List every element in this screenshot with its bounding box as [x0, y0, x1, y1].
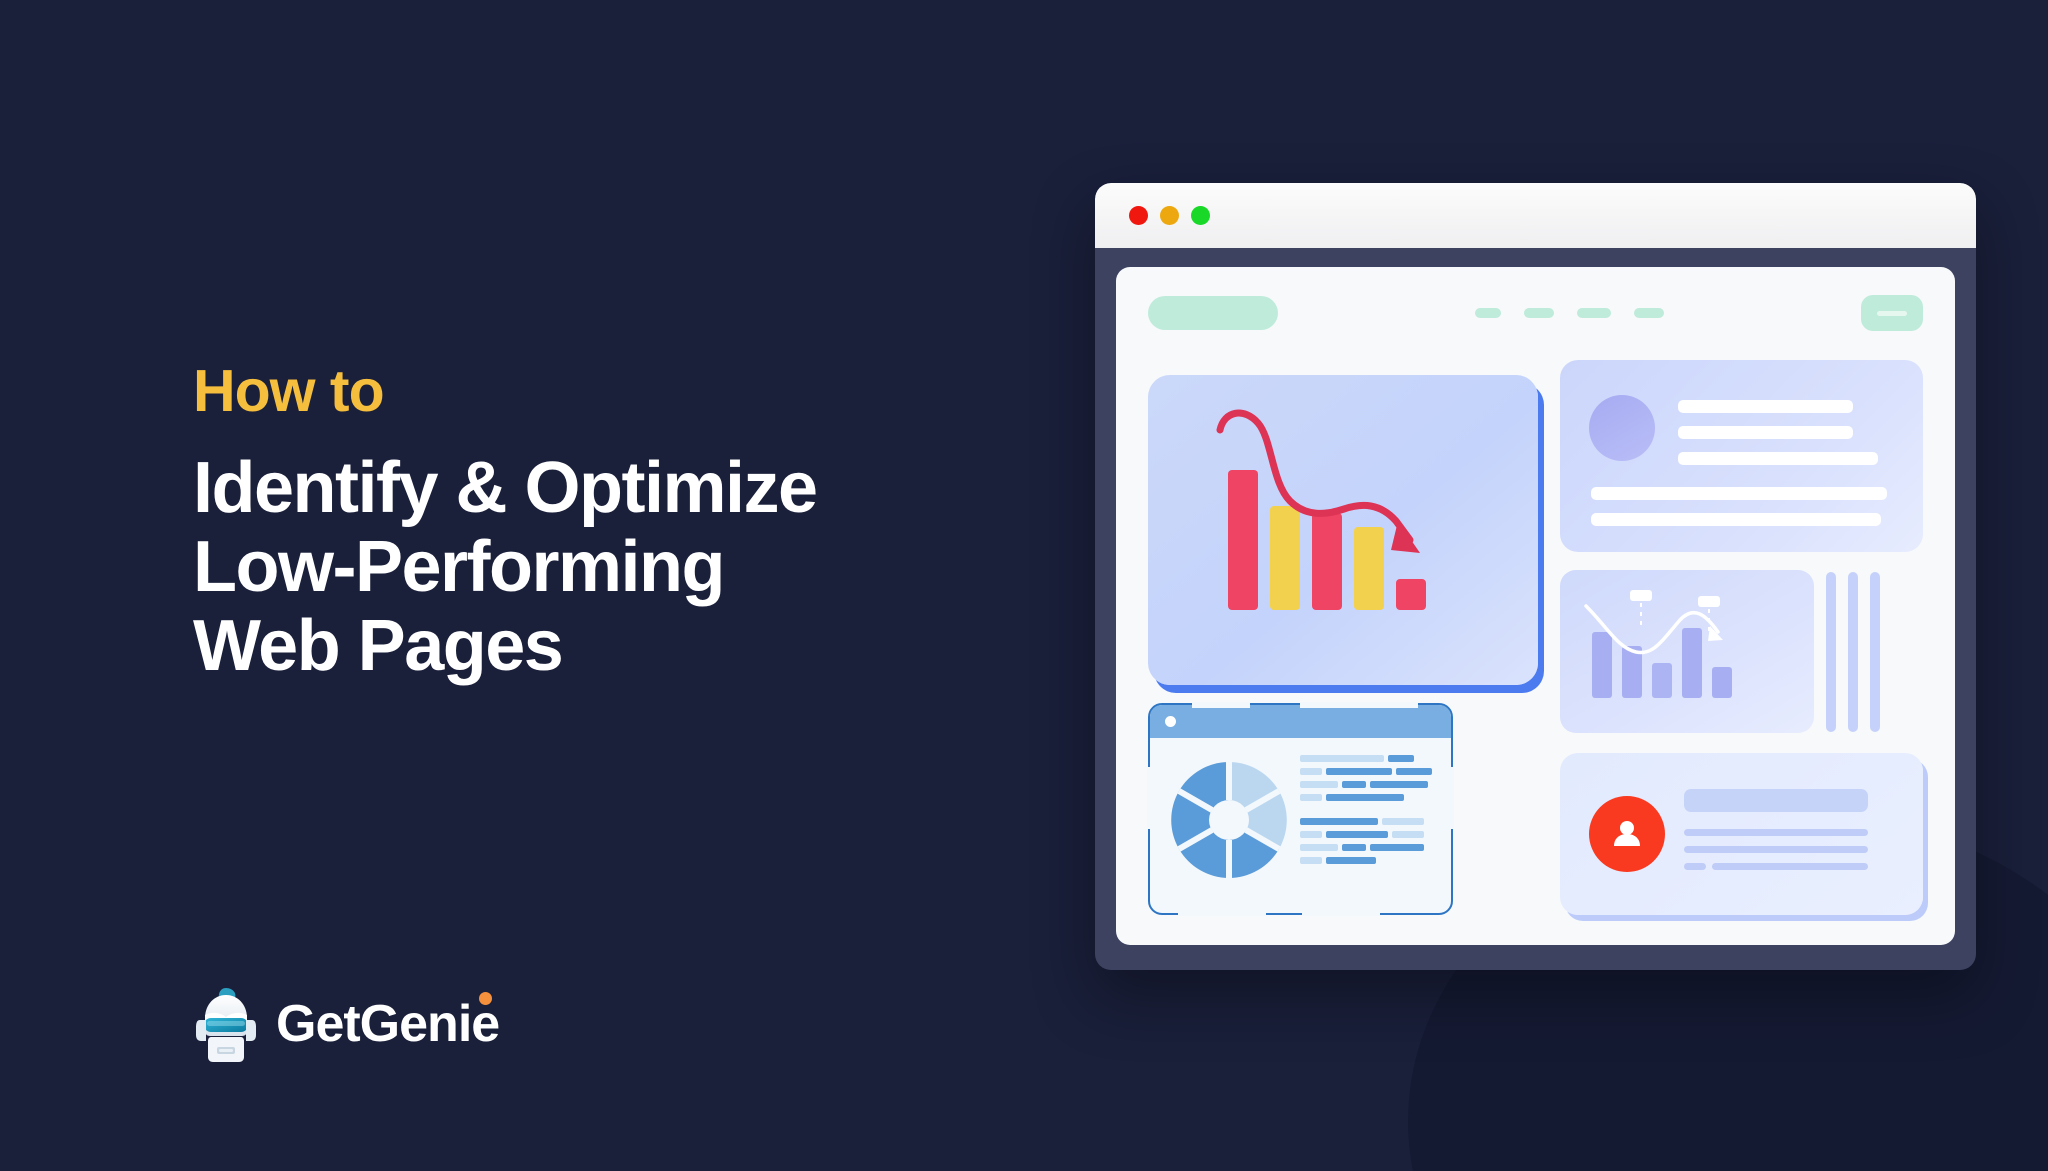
skeleton-line — [1684, 863, 1706, 870]
mini-trend-chart-card[interactable] — [1560, 570, 1814, 733]
browser-viewport — [1116, 267, 1955, 945]
skeleton-line — [1678, 426, 1853, 439]
avatar — [1589, 395, 1655, 461]
maximize-icon[interactable] — [1191, 206, 1210, 225]
frame-accent — [1302, 910, 1380, 916]
person-icon — [1608, 815, 1646, 853]
skeleton-row — [1300, 794, 1442, 804]
nav-cta-button[interactable] — [1861, 295, 1923, 331]
browser-window-mockup — [1095, 183, 1976, 970]
skeleton-row — [1300, 831, 1442, 841]
skeleton-line — [1712, 863, 1868, 870]
browser-titlebar — [1095, 183, 1976, 248]
side-bar-1 — [1826, 572, 1836, 732]
side-bar-2 — [1848, 572, 1858, 732]
skeleton-line — [1678, 400, 1853, 413]
nav-link-1[interactable] — [1475, 308, 1501, 318]
nav-links-group — [1278, 308, 1861, 318]
frame-accent — [1448, 767, 1454, 829]
nav-link-4[interactable] — [1634, 308, 1664, 318]
skeleton-row — [1300, 844, 1442, 854]
nav-link-3[interactable] — [1577, 308, 1611, 318]
donut-card-header — [1150, 705, 1451, 738]
avatar — [1589, 796, 1665, 872]
mini-trend-chart — [1560, 570, 1814, 733]
brand-lockup: GetGenie — [193, 985, 499, 1063]
genie-robot-icon — [193, 985, 259, 1063]
headline-line-3: Web Pages — [193, 607, 993, 686]
close-icon[interactable] — [1129, 206, 1148, 225]
profile-skeleton-card[interactable] — [1560, 360, 1923, 552]
frame-accent — [1192, 702, 1250, 708]
skeleton-row — [1300, 818, 1442, 828]
skeleton-row — [1300, 857, 1442, 867]
declining-bar-chart — [1148, 375, 1538, 685]
nav-cta-label-placeholder — [1877, 311, 1907, 316]
page-title: Identify & Optimize Low-Performing Web P… — [193, 449, 993, 687]
skeleton-line — [1684, 846, 1868, 853]
brand-name-text: GetGenie — [276, 995, 499, 1053]
frame-accent — [1178, 910, 1266, 916]
skeleton-row — [1300, 755, 1442, 765]
skeleton-line — [1591, 487, 1887, 500]
headline-line-2: Low-Performing — [193, 528, 993, 607]
hero-text-block: How to Identify & Optimize Low-Performin… — [193, 362, 993, 687]
minimize-icon[interactable] — [1160, 206, 1179, 225]
donut-card-text-skeleton — [1300, 755, 1442, 870]
dashboard-navbar — [1116, 267, 1955, 359]
skeleton-line — [1684, 789, 1868, 812]
skeleton-line — [1678, 452, 1878, 465]
frame-accent — [1147, 767, 1153, 829]
skeleton-line — [1591, 513, 1881, 526]
donut-chart — [1164, 750, 1294, 890]
skeleton-row — [1300, 768, 1442, 778]
frame-accent — [1300, 702, 1418, 708]
eyebrow-label: How to — [193, 362, 993, 421]
user-profile-card[interactable] — [1560, 753, 1923, 915]
status-dot-icon — [1165, 716, 1176, 727]
headline-line-1: Identify & Optimize — [193, 449, 993, 528]
brand-name: GetGenie — [276, 994, 499, 1054]
dashboard-grid — [1148, 375, 1923, 915]
declining-bar-chart-card[interactable] — [1148, 375, 1538, 685]
side-bar-3 — [1870, 572, 1880, 732]
side-bars-group — [1826, 572, 1880, 732]
skeleton-row — [1300, 781, 1442, 791]
nav-link-2[interactable] — [1524, 308, 1554, 318]
skeleton-line — [1684, 829, 1868, 836]
nav-logo-placeholder[interactable] — [1148, 296, 1278, 330]
donut-report-card[interactable] — [1148, 703, 1453, 915]
